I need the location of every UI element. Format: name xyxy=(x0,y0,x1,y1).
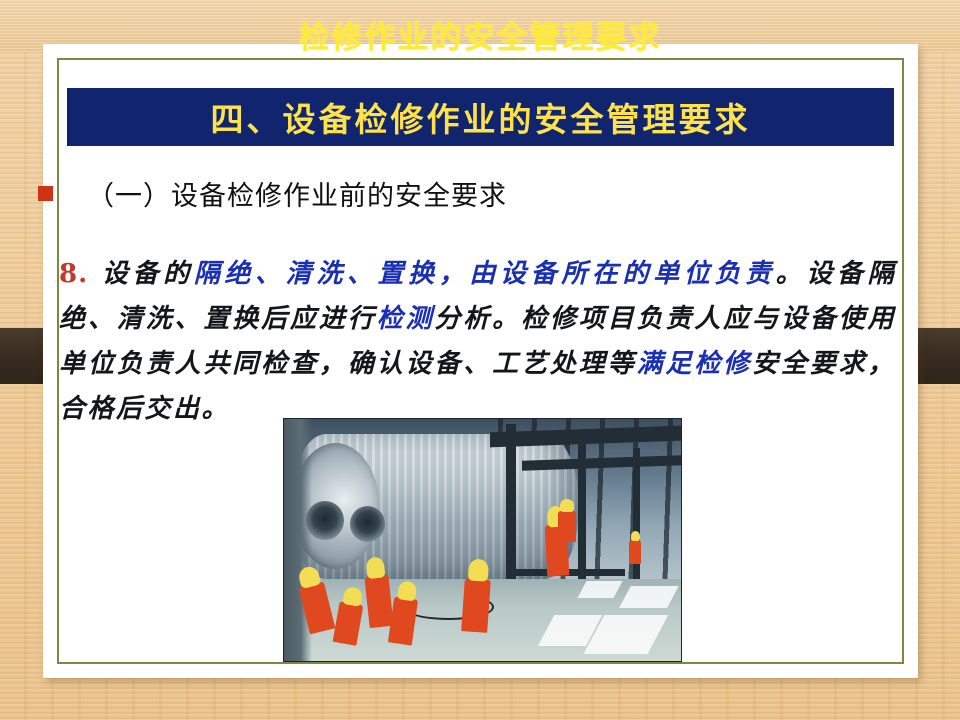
slide-stage: 四、设备检修作业的安全管理要求 （一）设备检修作业前的安全要求 8. 设备的隔绝… xyxy=(0,0,960,720)
body-paragraph: 8. 设备的隔绝、清洗、置换，由设备所在的单位负责。设备隔绝、清洗、置换后应进行… xyxy=(59,252,896,432)
photo-worker xyxy=(558,511,576,542)
slide-header-bar: 四、设备检修作业的安全管理要求 xyxy=(67,88,894,146)
red-square-bullet-icon xyxy=(38,186,53,201)
subtitle-text: （一）设备检修作业前的安全要求 xyxy=(61,174,507,213)
body-seg-2: 由设备所在的单位负责 xyxy=(469,259,775,289)
item-number: 8. xyxy=(59,259,88,289)
overlay-title: 检修作业的安全管理要求 xyxy=(0,12,960,57)
body-seg-6: 满足检修 xyxy=(636,349,752,379)
slide-panel: 四、设备检修作业的安全管理要求 （一）设备检修作业前的安全要求 8. 设备的隔绝… xyxy=(43,44,918,678)
body-seg-0: 设备的 xyxy=(102,259,194,289)
photo-worker xyxy=(629,540,641,564)
body-seg-4: 检测 xyxy=(377,304,435,334)
maintenance-site-photo xyxy=(283,418,682,662)
slide-header-title: 四、设备检修作业的安全管理要求 xyxy=(211,93,751,141)
photo-worker xyxy=(461,578,490,633)
body-seg-1: 隔绝、清洗、置换， xyxy=(194,259,470,289)
subtitle-row: （一）设备检修作业前的安全要求 xyxy=(61,174,898,213)
